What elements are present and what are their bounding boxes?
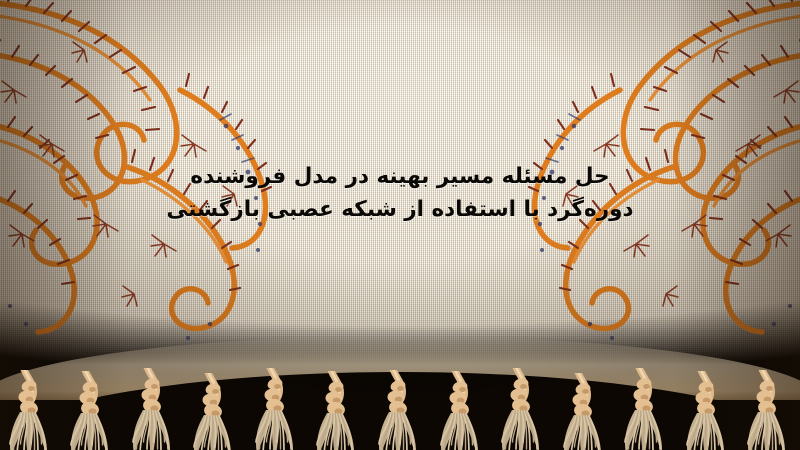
tassel-fringe bbox=[0, 352, 800, 450]
tassel bbox=[63, 371, 121, 450]
tassel bbox=[556, 373, 614, 450]
title-line-1: حل مسئله مسیر بهینه در مدل فروشنده bbox=[0, 160, 800, 193]
tassel bbox=[2, 370, 60, 450]
tassel bbox=[125, 368, 183, 450]
tassel bbox=[371, 370, 429, 450]
tassel bbox=[494, 368, 552, 450]
page-title: حل مسئله مسیر بهینه در مدل فروشنده دوره‌… bbox=[0, 160, 800, 226]
tassel bbox=[309, 371, 367, 450]
title-slide: حل مسئله مسیر بهینه در مدل فروشنده دوره‌… bbox=[0, 0, 800, 450]
tassel bbox=[740, 370, 798, 450]
tassel bbox=[679, 371, 737, 450]
tassel bbox=[617, 368, 675, 450]
tassel bbox=[433, 371, 491, 450]
tassel bbox=[248, 368, 306, 450]
tassel bbox=[186, 373, 244, 450]
title-line-2: دوره‌گرد با استفاده از شبکه عصبی بازگشتی bbox=[0, 193, 800, 226]
